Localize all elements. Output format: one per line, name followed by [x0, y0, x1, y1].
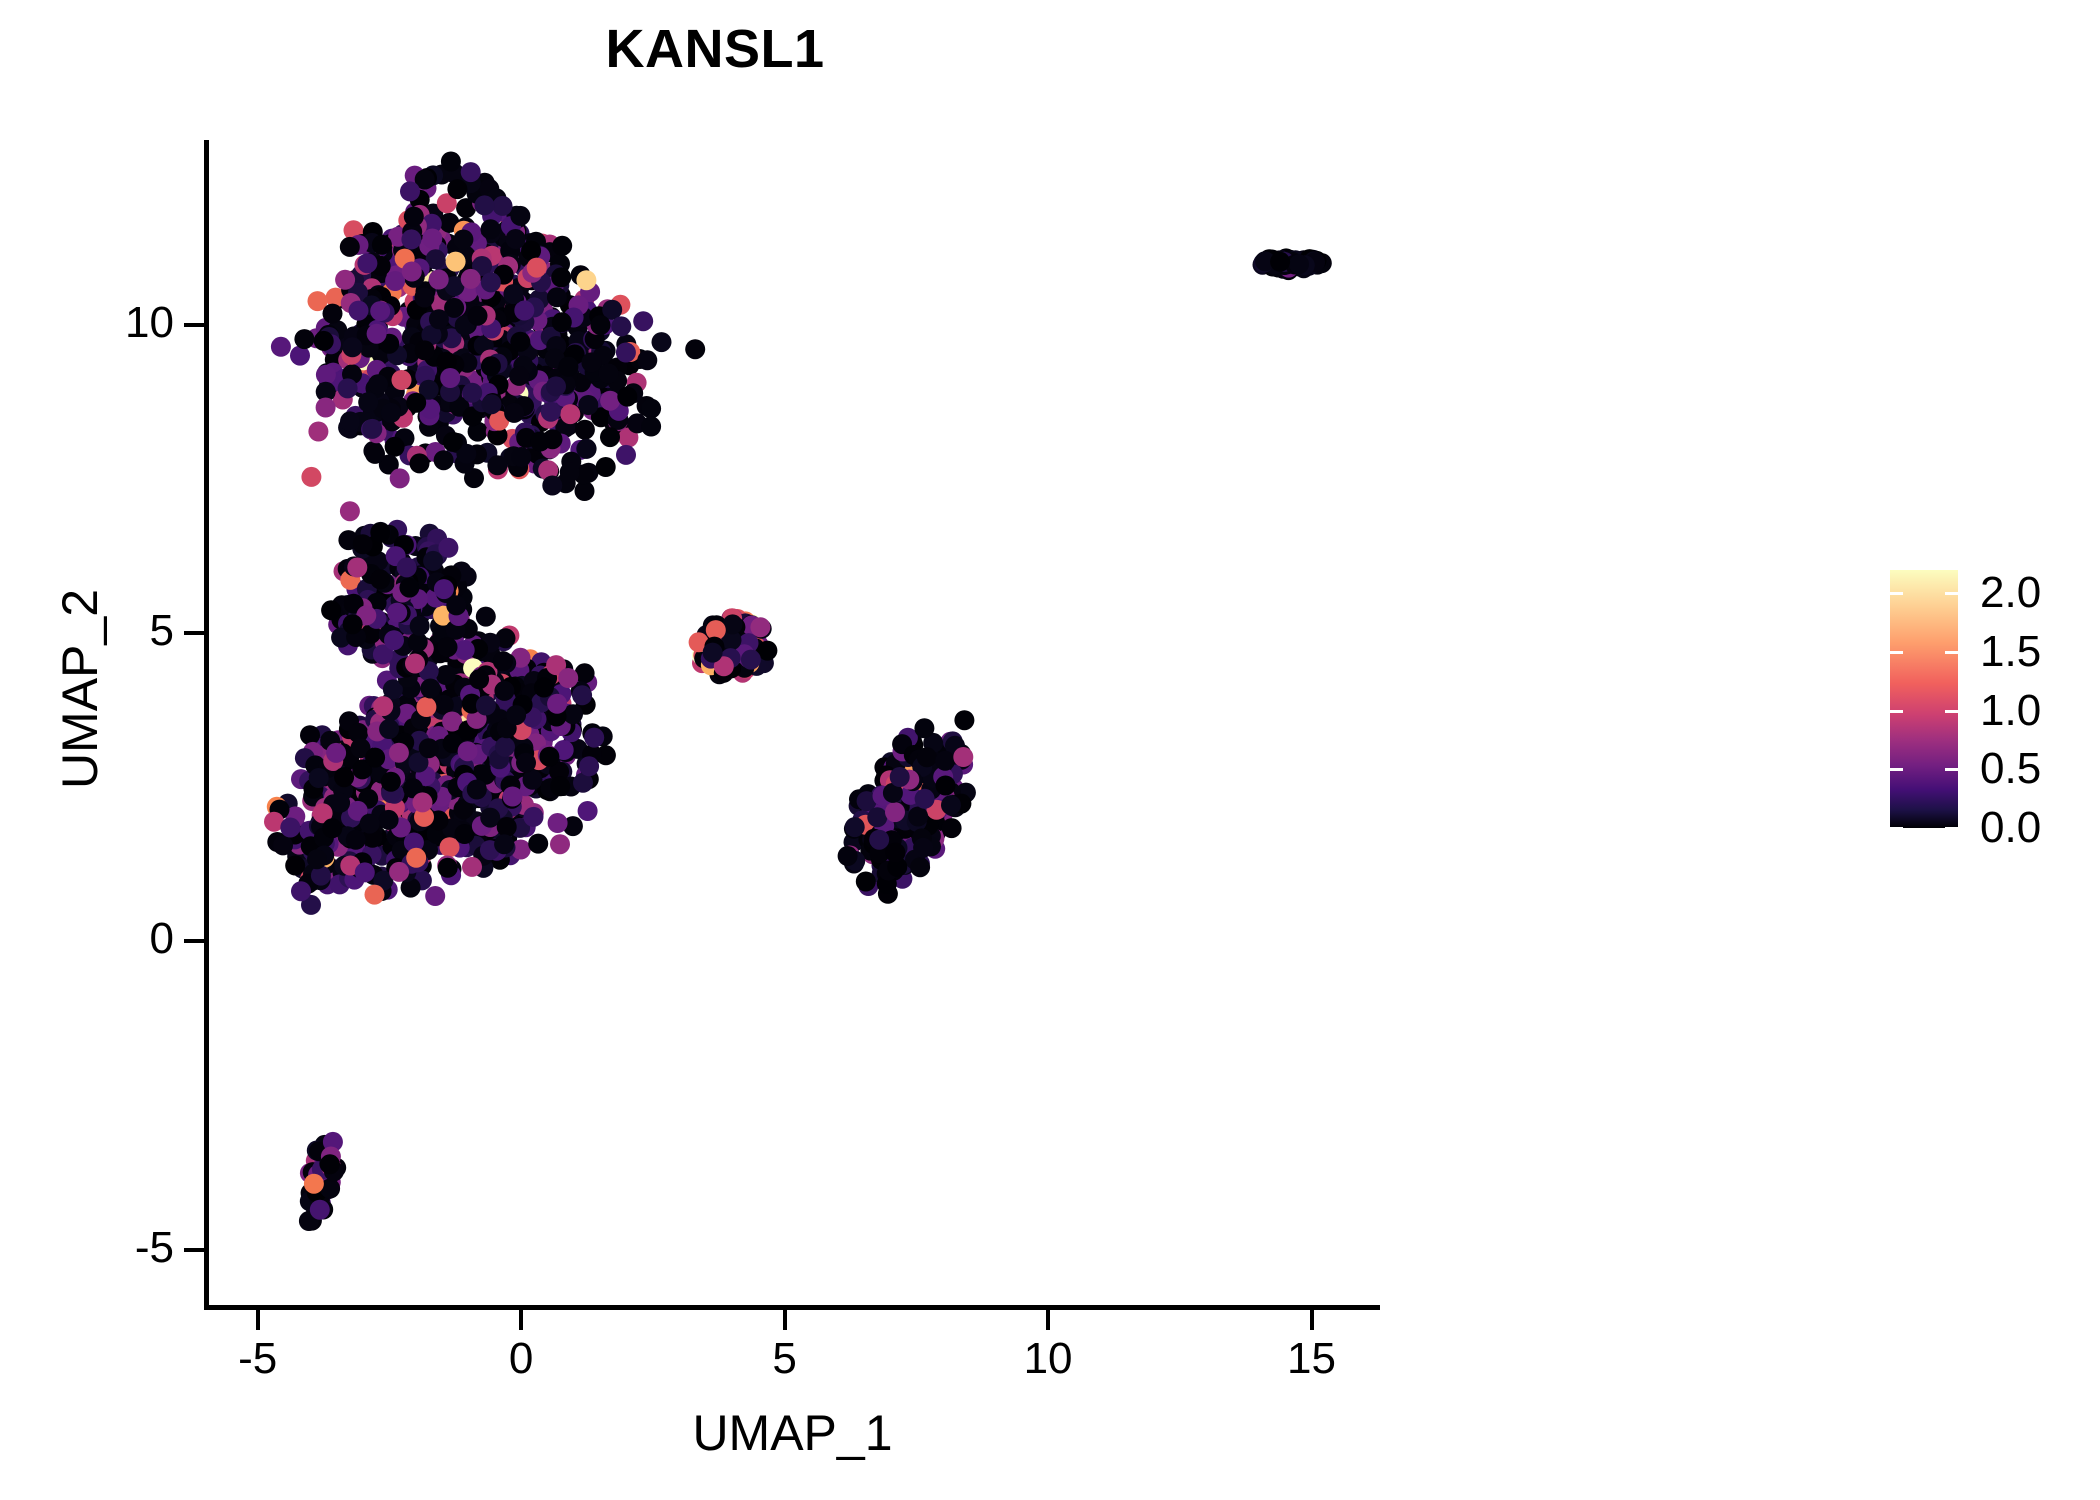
colorbar-tick-mark	[1890, 592, 1903, 595]
scatter-point	[584, 728, 604, 748]
scatter-point	[362, 419, 382, 439]
scatter-point	[641, 417, 661, 437]
scatter-point	[509, 366, 529, 386]
scatter-point	[360, 814, 380, 834]
scatter-point	[600, 427, 620, 447]
scatter-point	[440, 837, 460, 857]
scatter-point	[462, 383, 482, 403]
scatter-point	[550, 776, 570, 796]
scatter-point	[349, 301, 369, 321]
scatter-point	[346, 830, 366, 850]
scatter-point	[914, 718, 934, 738]
scatter-point	[511, 447, 531, 467]
scatter-point	[285, 856, 305, 876]
scatter-point	[552, 312, 572, 332]
scatter-point	[397, 557, 417, 577]
scatter-point	[379, 719, 399, 739]
scatter-point	[381, 772, 401, 792]
colorbar-tick-mark	[1945, 768, 1958, 771]
scatter-point	[577, 439, 597, 459]
colorbar-legend: 2.01.51.00.50.0	[1890, 570, 2080, 890]
scatter-point	[335, 270, 355, 290]
scatter-point	[387, 603, 407, 623]
scatter-point	[616, 343, 636, 363]
scatter-point	[446, 595, 466, 615]
scatter-point	[385, 271, 405, 291]
scatter-point	[560, 404, 580, 424]
y-tick-label: 10	[0, 301, 174, 345]
colorbar-tick-label: 1.5	[1980, 630, 2041, 674]
scatter-point	[294, 329, 314, 349]
scatter-point	[481, 272, 501, 292]
scatter-point	[581, 352, 601, 372]
scatter-point	[438, 858, 458, 878]
scatter-point	[458, 741, 478, 761]
scatter-point	[438, 538, 458, 558]
scatter-point	[416, 697, 436, 717]
scatter-point	[506, 229, 526, 249]
scatter-point	[373, 696, 393, 716]
scatter-point	[953, 747, 973, 767]
scatter-point	[392, 370, 412, 390]
scatter-point	[357, 253, 377, 273]
scatter-point	[406, 848, 426, 868]
scatter-point	[547, 287, 567, 307]
x-tick-label: -5	[178, 1336, 338, 1382]
scatter-point	[596, 457, 616, 477]
scatter-point	[405, 654, 425, 674]
scatter-point	[355, 862, 375, 882]
scatter-point	[291, 881, 311, 901]
scatter-point	[523, 770, 543, 790]
scatter-point	[469, 669, 489, 689]
colorbar-tick-mark	[1945, 651, 1958, 654]
colorbar-gradient	[1890, 570, 1958, 828]
scatter-point	[481, 219, 501, 239]
x-axis-line	[204, 1305, 1380, 1310]
scatter-point	[461, 162, 481, 182]
scatter-point	[885, 843, 905, 863]
scatter-point	[524, 807, 544, 827]
scatter-point	[1289, 254, 1309, 274]
scatter-point	[493, 196, 513, 216]
scatter-point	[322, 818, 342, 838]
scatter-point	[510, 332, 530, 352]
scatter-point	[455, 640, 475, 660]
scatter-point	[438, 637, 458, 657]
colorbar-tick-mark	[1890, 651, 1903, 654]
scatter-point	[401, 229, 421, 249]
scatter-point	[273, 835, 293, 855]
scatter-point	[304, 1174, 324, 1194]
colorbar-tick-mark	[1945, 710, 1958, 713]
scatter-point	[548, 813, 568, 833]
scatter-point	[534, 678, 554, 698]
scatter-point	[546, 376, 566, 396]
scatter-point	[530, 432, 550, 452]
scatter-point	[410, 453, 430, 473]
x-axis-title: UMAP_1	[205, 1404, 1380, 1462]
scatter-point	[309, 768, 329, 788]
scatter-point	[314, 331, 334, 351]
scatter-point	[468, 306, 488, 326]
page-title: KANSL1	[0, 22, 1430, 76]
scatter-point	[476, 607, 496, 627]
scatter-point	[390, 468, 410, 488]
scatter-point	[461, 269, 481, 289]
scatter-point	[367, 324, 387, 344]
scatter-point	[514, 301, 534, 321]
scatter-point	[372, 235, 392, 255]
scatter-point	[368, 374, 388, 394]
scatter-point	[385, 437, 405, 457]
scatter-point	[845, 817, 865, 837]
scatter-point	[300, 725, 320, 745]
scatter-point	[599, 364, 619, 384]
scatter-point	[436, 665, 456, 685]
y-tick-mark	[184, 631, 204, 635]
scatter-point	[481, 356, 501, 376]
scatter-point	[908, 807, 928, 827]
colorbar-tick-label: 0.5	[1980, 747, 2041, 791]
scatter-point	[578, 395, 598, 415]
scatter-point	[547, 694, 567, 714]
scatter-point	[741, 650, 761, 670]
scatter-point	[280, 818, 300, 838]
scatter-point	[440, 368, 460, 388]
scatter-point	[750, 617, 770, 637]
scatter-point	[935, 751, 955, 771]
scatter-point	[434, 579, 454, 599]
scatter-point	[434, 450, 454, 470]
scatter-point	[503, 284, 523, 304]
scatter-point	[419, 738, 439, 758]
scatter-point	[301, 467, 321, 487]
scatter-point	[441, 152, 461, 172]
scatter-point	[506, 705, 526, 725]
y-tick-mark	[184, 1248, 204, 1252]
scatter-point	[379, 810, 399, 830]
scatter-point	[611, 316, 631, 336]
scatter-point	[414, 288, 434, 308]
scatter-point	[370, 523, 390, 543]
scatter-point	[406, 393, 426, 413]
scatter-point	[334, 767, 354, 787]
scatter-point	[494, 681, 514, 701]
scatter-point	[633, 311, 653, 331]
x-tick-label: 15	[1232, 1336, 1392, 1382]
scatter-point	[495, 737, 515, 757]
scatter-point	[365, 748, 385, 768]
scatter-point	[558, 357, 578, 377]
scatter-point	[370, 569, 390, 589]
scatter-layer	[205, 140, 1380, 1305]
scatter-point	[637, 350, 657, 370]
scatter-point	[838, 846, 858, 866]
x-tick-label: 5	[705, 1336, 865, 1382]
scatter-point	[446, 252, 466, 272]
scatter-point	[652, 332, 672, 352]
scatter-point	[476, 696, 496, 716]
scatter-point	[410, 616, 430, 636]
x-tick-mark	[256, 1310, 260, 1330]
x-tick-mark	[1046, 1310, 1050, 1330]
scatter-point	[617, 387, 637, 407]
y-tick-label: -5	[0, 1226, 174, 1270]
scatter-point	[856, 872, 876, 892]
scatter-point	[910, 857, 930, 877]
scatter-point	[340, 501, 360, 521]
x-tick-mark	[783, 1310, 787, 1330]
colorbar-tick-mark	[1945, 592, 1958, 595]
scatter-point	[542, 476, 562, 496]
scatter-point	[913, 838, 933, 858]
scatter-point	[389, 862, 409, 882]
scatter-point	[384, 630, 404, 650]
scatter-point	[308, 422, 328, 442]
scatter-point	[389, 743, 409, 763]
scatter-point	[323, 304, 343, 324]
scatter-point	[560, 462, 580, 482]
scatter-point	[447, 179, 467, 199]
scatter-point	[616, 445, 636, 465]
scatter-point	[576, 270, 596, 290]
scatter-point	[342, 337, 362, 357]
scatter-point	[579, 756, 599, 776]
scatter-point	[685, 339, 705, 359]
scatter-point	[575, 420, 595, 440]
scatter-point	[400, 181, 420, 201]
scatter-point	[365, 444, 385, 464]
scatter-point	[404, 207, 424, 227]
scatter-point	[365, 885, 385, 905]
scatter-point	[455, 824, 475, 844]
scatter-point	[370, 301, 390, 321]
scatter-point	[503, 787, 523, 807]
scatter-point	[343, 614, 363, 634]
scatter-point	[271, 337, 291, 357]
scatter-point	[578, 801, 598, 821]
scatter-point	[330, 793, 350, 813]
scatter-point	[429, 270, 449, 290]
scatter-point	[321, 600, 341, 620]
y-tick-mark	[184, 939, 204, 943]
scatter-point	[942, 818, 962, 838]
scatter-point	[353, 534, 373, 554]
scatter-point	[890, 767, 910, 787]
scatter-point	[504, 403, 524, 423]
scatter-point	[703, 643, 723, 663]
scatter-point	[954, 710, 974, 730]
scatter-point	[1270, 252, 1290, 272]
scatter-point	[915, 789, 935, 809]
colorbar-tick-label: 0.0	[1980, 806, 2041, 850]
scatter-point	[487, 455, 507, 475]
scatter-point	[422, 229, 442, 249]
scatter-point	[541, 402, 561, 422]
y-axis-title: UMAP_2	[51, 369, 109, 1009]
scatter-point	[316, 365, 336, 385]
scatter-point	[558, 668, 578, 688]
scatter-point	[550, 834, 570, 854]
scatter-point	[516, 753, 536, 773]
scatter-point	[600, 391, 620, 411]
scatter-point	[347, 558, 367, 578]
colorbar-tick-mark	[1890, 710, 1903, 713]
umap-feature-plot: KANSL1 -5051015 -50510 UMAP_1 UMAP_2 2.0…	[0, 0, 2100, 1500]
scatter-point	[572, 685, 592, 705]
plot-panel	[205, 140, 1380, 1305]
scatter-point	[510, 206, 530, 226]
scatter-point	[415, 340, 435, 360]
scatter-point	[591, 315, 611, 335]
scatter-point	[527, 258, 547, 278]
scatter-point	[429, 309, 449, 329]
x-tick-label: 0	[441, 1336, 601, 1382]
scatter-point	[402, 262, 422, 282]
x-tick-mark	[1310, 1310, 1314, 1330]
scatter-point	[320, 1154, 340, 1174]
scatter-point	[338, 378, 358, 398]
scatter-point	[494, 834, 514, 854]
scatter-point	[475, 195, 495, 215]
colorbar-tick-mark	[1890, 768, 1903, 771]
scatter-point	[340, 237, 360, 257]
scatter-point	[467, 780, 487, 800]
scatter-point	[917, 747, 937, 767]
scatter-point	[867, 807, 887, 827]
scatter-point	[381, 403, 401, 423]
scatter-point	[539, 747, 559, 767]
y-axis-line	[204, 140, 209, 1310]
scatter-point	[453, 230, 473, 250]
colorbar-tick-label: 1.0	[1980, 689, 2041, 733]
scatter-point	[552, 236, 572, 256]
scatter-point	[423, 551, 443, 571]
scatter-point	[358, 392, 378, 412]
colorbar-tick-mark	[1890, 827, 1903, 830]
colorbar-tick-mark	[1945, 827, 1958, 830]
scatter-point	[941, 795, 961, 815]
scatter-point	[528, 834, 548, 854]
scatter-point	[316, 398, 336, 418]
scatter-point	[551, 267, 571, 287]
scatter-point	[482, 394, 502, 414]
scatter-point	[413, 792, 433, 812]
y-tick-mark	[184, 323, 204, 327]
scatter-point	[420, 679, 440, 699]
scatter-point	[307, 849, 327, 869]
scatter-point	[641, 399, 661, 419]
scatter-point	[869, 830, 889, 850]
scatter-point	[885, 802, 905, 822]
scatter-point	[443, 432, 463, 452]
scatter-point	[399, 578, 419, 598]
x-tick-label: 10	[968, 1336, 1128, 1382]
x-tick-mark	[519, 1310, 523, 1330]
scatter-point	[310, 1200, 330, 1220]
scatter-point	[493, 651, 513, 671]
scatter-point	[462, 857, 482, 877]
scatter-point	[497, 817, 517, 837]
scatter-point	[425, 886, 445, 906]
scatter-point	[326, 743, 346, 763]
scatter-point	[936, 776, 956, 796]
colorbar-tick-label: 2.0	[1980, 571, 2041, 615]
scatter-point	[340, 411, 360, 431]
